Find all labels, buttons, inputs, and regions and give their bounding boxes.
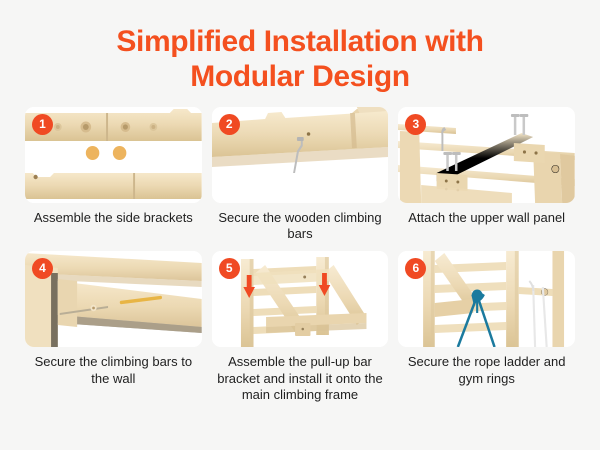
step-item-1: 1 Assemble the side brackets [25,107,202,243]
step-badge-5: 5 [219,258,240,279]
step-caption-3: Attach the upper wall panel [408,210,565,227]
step-item-3: 3 Attach the upper wall panel [398,107,575,243]
step-image-4: 4 [25,251,202,347]
step-caption-5: Assemble the pull-up bar bracket and ins… [212,354,389,404]
step-caption-2: Secure the wooden climbing bars [212,210,389,243]
step-caption-4: Secure the climbing bars to the wall [25,354,202,387]
page-title-line-1: Simplified Installation with [0,24,600,59]
step-badge-4: 4 [32,258,53,279]
steps-grid: 1 Assemble the side brackets [25,107,575,404]
step-item-4: 4 Secure the climbing bars to the wall [25,251,202,404]
step-badge-2: 2 [219,114,240,135]
page-title: Simplified Installation with Modular Des… [0,0,600,95]
step-item-6: 6 Secure the rope ladder and gym rings [398,251,575,404]
step-badge-1: 1 [32,114,53,135]
step-caption-1: Assemble the side brackets [34,210,193,227]
step-badge-3: 3 [405,114,426,135]
page-title-line-2: Modular Design [0,59,600,94]
step-image-3: 3 [398,107,575,203]
step-image-2: 2 [212,107,389,203]
step-item-2: 2 Secure the wooden climbing bars [212,107,389,243]
step-item-5: 5 Assemble the pull-up bar bracket and i… [212,251,389,404]
step-image-1: 1 [25,107,202,203]
infographic-page: Simplified Installation with Modular Des… [0,0,600,450]
step-image-5: 5 [212,251,389,347]
step-image-6: 6 [398,251,575,347]
step-caption-6: Secure the rope ladder and gym rings [398,354,575,387]
